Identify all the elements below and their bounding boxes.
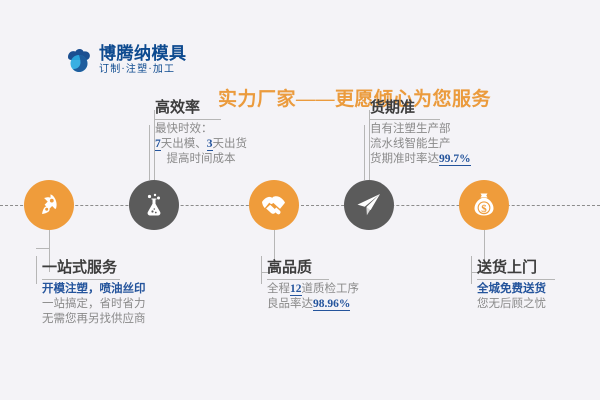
list-item: 开模注塑，喷油丝印 [42,282,146,297]
metric-label: 货期准时率达 [370,153,439,165]
list-item: 7天出模、3天出货 [155,137,247,152]
timeline-node-paper-plane[interactable] [344,180,394,230]
block-title-underline-2 [155,119,221,120]
metric-label: 全程 [267,283,290,295]
block-lines: 自有注塑生产部 流水线智能生产 货期准时率达99.7% [370,122,471,167]
list-item: 全城免费送货 [477,282,546,297]
block-title: 一站式服务 [42,258,146,278]
logo-tagline: 订制·注塑·加工 [99,63,187,76]
list-item: 无需您再另找供应商 [42,312,146,327]
block-rule-4 [364,125,365,180]
timeline-node-money-bag[interactable]: $ [459,180,509,230]
list-item: 最快时效： [155,122,247,137]
list-item: 全程12道质检工序 [267,282,359,297]
list-item: 提高时间成本 [155,152,247,167]
block-on-time-delivery: 货期准 自有注塑生产部 流水线智能生产 货期准时率达99.7% [370,98,471,167]
metric-qc-steps: 12 [290,283,302,296]
block-rule-5 [471,256,472,284]
block-title: 高效率 [155,98,247,118]
metric-label: 天出货 [213,138,248,150]
metric-label: 道质检工序 [302,283,360,295]
block-door-to-door-delivery: 送货上门 全城免费送货 您无后顾之忧 [477,258,546,312]
block-title: 送货上门 [477,258,546,278]
metric-label: 良品率达 [267,298,313,310]
block-lines: 全城免费送货 您无后顾之忧 [477,282,546,312]
block-elbow-1 [36,248,50,249]
list-item: 一站搞定，省时省力 [42,297,146,312]
block-high-efficiency: 高效率 最快时效： 7天出模、3天出货 提高时间成本 [155,98,247,167]
block-rule-2 [149,125,150,180]
logo-company-name: 博腾纳模具 [99,44,187,63]
block-title-underline-4 [370,119,440,120]
handshake-icon [260,191,288,219]
timeline-node-flask[interactable] [129,180,179,230]
block-title-underline-3 [267,279,329,280]
list-item: 自有注塑生产部 [370,122,471,137]
block-title-underline-1 [42,279,120,280]
block-one-stop-service: 一站式服务 开模注塑，喷油丝印 一站搞定，省时省力 无需您再另找供应商 [42,258,146,327]
metric-yield-rate: 98.96% [313,298,350,311]
flask-icon [141,192,167,218]
timeline-node-rocket[interactable] [24,180,74,230]
block-lines: 全程12道质检工序 良品率达98.96% [267,282,359,312]
block-lines: 最快时效： 7天出模、3天出货 提高时间成本 [155,122,247,167]
money-bag-icon: $ [470,191,498,219]
block-title: 货期准 [370,98,471,118]
company-logo: 博腾纳模具 订制·注塑·加工 [64,44,187,76]
metric-label: 天出模、 [161,138,207,150]
svg-text:$: $ [481,203,487,215]
header: 博腾纳模具 订制·注塑·加工 实力厂家——更愿倾心为您服务 [0,40,600,90]
block-rule-1 [36,256,37,284]
list-item: 流水线智能生产 [370,137,471,152]
metric-on-time-rate: 99.7% [439,153,471,166]
block-title-underline-5 [477,279,555,280]
list-item: 货期准时率达99.7% [370,152,471,167]
timeline-dashed-line [0,205,600,206]
block-title: 高品质 [267,258,359,278]
rocket-icon [36,192,62,218]
block-high-quality: 高品质 全程12道质检工序 良品率达98.96% [267,258,359,312]
timeline-node-handshake[interactable] [249,180,299,230]
paper-plane-icon [355,191,383,219]
list-item: 良品率达98.96% [267,297,359,312]
infographic-canvas: 博腾纳模具 订制·注塑·加工 实力厂家——更愿倾心为您服务 [0,0,600,400]
block-rule-3 [261,256,262,284]
block-lines: 开模注塑，喷油丝印 一站搞定，省时省力 无需您再另找供应商 [42,282,146,327]
cloud-droplet-logo-icon [64,45,94,75]
list-item: 您无后顾之忧 [477,297,546,312]
